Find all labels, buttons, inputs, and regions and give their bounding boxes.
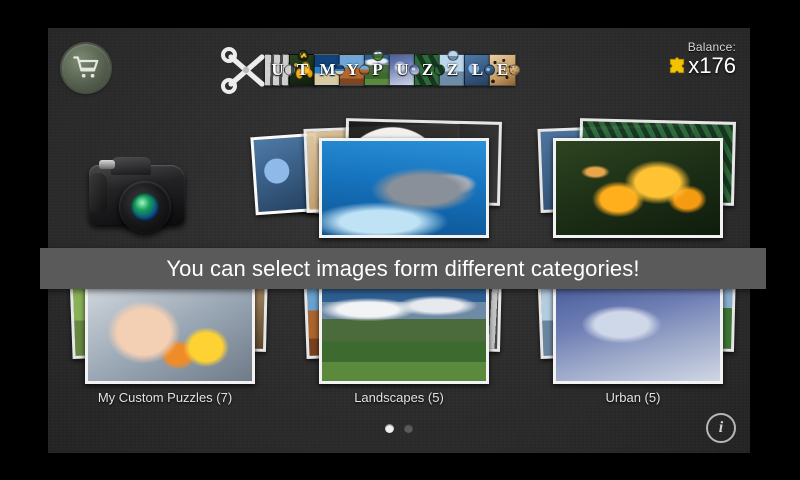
camera-grip bbox=[89, 173, 107, 213]
stack-photo-front bbox=[85, 284, 255, 384]
category-animals[interactable] bbox=[293, 120, 505, 244]
stack-photo-front bbox=[553, 284, 723, 384]
app-window: U T M Y P U Z Z L E Balance: x176 bbox=[48, 28, 750, 453]
logo-tile-letter: P bbox=[372, 60, 382, 80]
logo-tiles: U T M Y P U Z Z L E bbox=[266, 54, 516, 86]
stack-photo-front bbox=[319, 284, 489, 384]
info-button[interactable]: i bbox=[706, 413, 736, 443]
app-logo: U T M Y P U Z Z L E bbox=[218, 40, 516, 100]
category-label: My Custom Puzzles (7) bbox=[98, 390, 232, 405]
camera-flash bbox=[99, 160, 115, 169]
camera-viewfinder bbox=[111, 157, 151, 175]
pagination-dot-2[interactable] bbox=[404, 424, 413, 433]
category-label: Landscapes (5) bbox=[354, 390, 444, 405]
scissors-icon bbox=[218, 44, 270, 96]
logo-tile-letter: Y bbox=[346, 60, 358, 80]
photo-stack bbox=[535, 120, 731, 238]
camera-lens bbox=[119, 181, 171, 233]
stack-photo-front bbox=[553, 138, 723, 238]
category-create-custom-puzzle[interactable] bbox=[59, 120, 271, 244]
logo-tile-letter: Z bbox=[447, 60, 458, 80]
tip-banner: You can select images form different cat… bbox=[40, 248, 766, 289]
logo-tile: L bbox=[464, 54, 491, 86]
camera-lens-glass bbox=[131, 193, 159, 221]
logo-tile-letter: E bbox=[497, 60, 508, 80]
logo-tile-letter: Z bbox=[422, 60, 433, 80]
logo-tile-letter: L bbox=[472, 60, 483, 80]
tip-banner-text: You can select images form different cat… bbox=[166, 256, 639, 282]
logo-tile-letter: U bbox=[396, 60, 408, 80]
pagination-dots[interactable] bbox=[48, 424, 750, 433]
stack-photo-front bbox=[319, 138, 489, 238]
balance-display: Balance: x176 bbox=[667, 40, 736, 77]
category-row bbox=[48, 120, 750, 244]
screenshot-root: U T M Y P U Z Z L E Balance: x176 bbox=[0, 0, 800, 480]
camera-icon bbox=[85, 131, 245, 227]
category-flowers[interactable] bbox=[527, 120, 739, 244]
pagination-dot-1[interactable] bbox=[385, 424, 394, 433]
logo-tile-letter: M bbox=[319, 60, 335, 80]
puzzle-piece-icon bbox=[667, 56, 687, 76]
logo-tile: U bbox=[389, 54, 416, 86]
logo-tile: M bbox=[314, 54, 341, 86]
shop-cart-button[interactable] bbox=[62, 44, 110, 92]
balance-label: Balance: bbox=[667, 40, 736, 54]
photo-stack bbox=[301, 120, 497, 238]
logo-tile-letter: U bbox=[271, 60, 283, 80]
camera-thumbnail bbox=[67, 120, 263, 238]
category-label: Urban (5) bbox=[606, 390, 661, 405]
logo-tile-letter: T bbox=[297, 60, 308, 80]
info-icon: i bbox=[719, 419, 723, 437]
shopping-cart-icon bbox=[72, 54, 100, 82]
balance-amount: x176 bbox=[688, 55, 736, 77]
